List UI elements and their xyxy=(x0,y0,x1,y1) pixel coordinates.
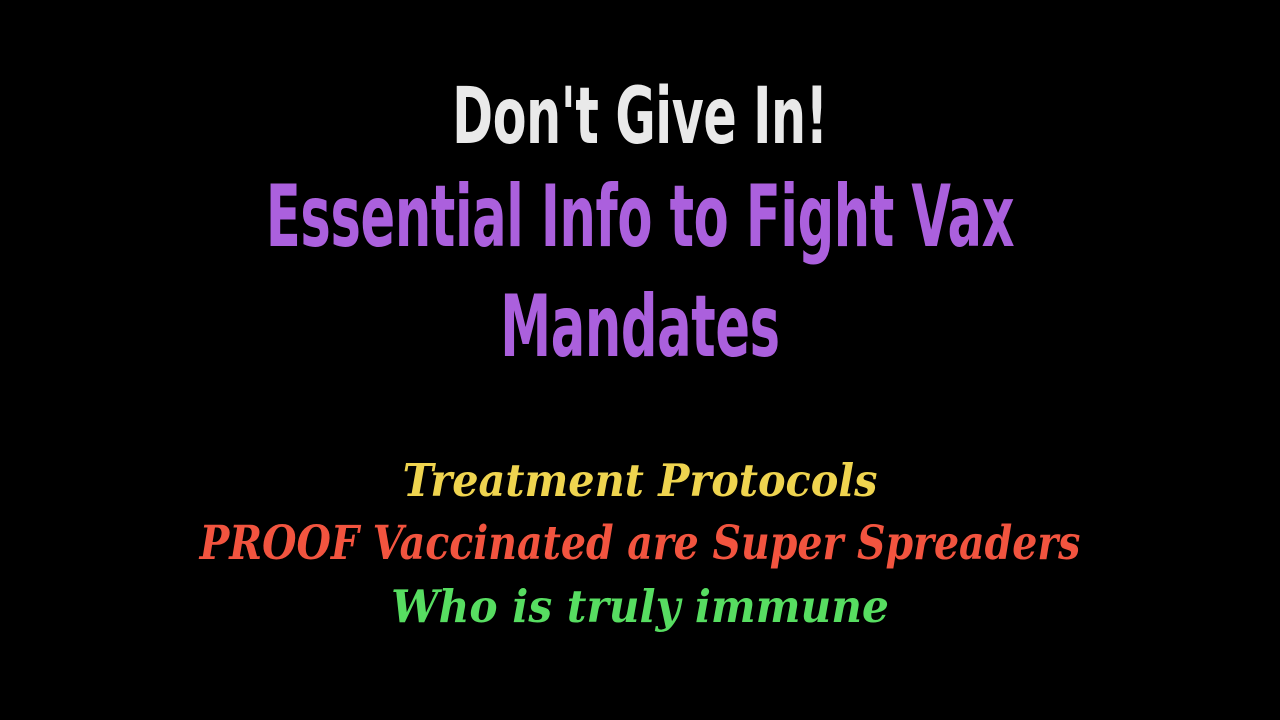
heading-line-1: Don't Give In! xyxy=(192,78,1088,156)
heading-line-2: Essential Info to Fight Vax xyxy=(218,162,1063,272)
subtitle-block: Treatment Protocols PROOF Vaccinated are… xyxy=(0,458,1280,629)
heading-line-3: Mandates xyxy=(218,272,1063,382)
subtitle-line-truly-immune: Who is truly immune xyxy=(38,584,1241,629)
subtitle-line-super-spreaders: PROOF Vaccinated are Super Spreaders xyxy=(102,520,1177,584)
subtitle-line-treatment-protocols: Treatment Protocols xyxy=(51,458,1229,520)
title-slide: Don't Give In! Essential Info to Fight V… xyxy=(0,0,1280,720)
heading-block: Don't Give In! Essential Info to Fight V… xyxy=(0,78,1280,382)
